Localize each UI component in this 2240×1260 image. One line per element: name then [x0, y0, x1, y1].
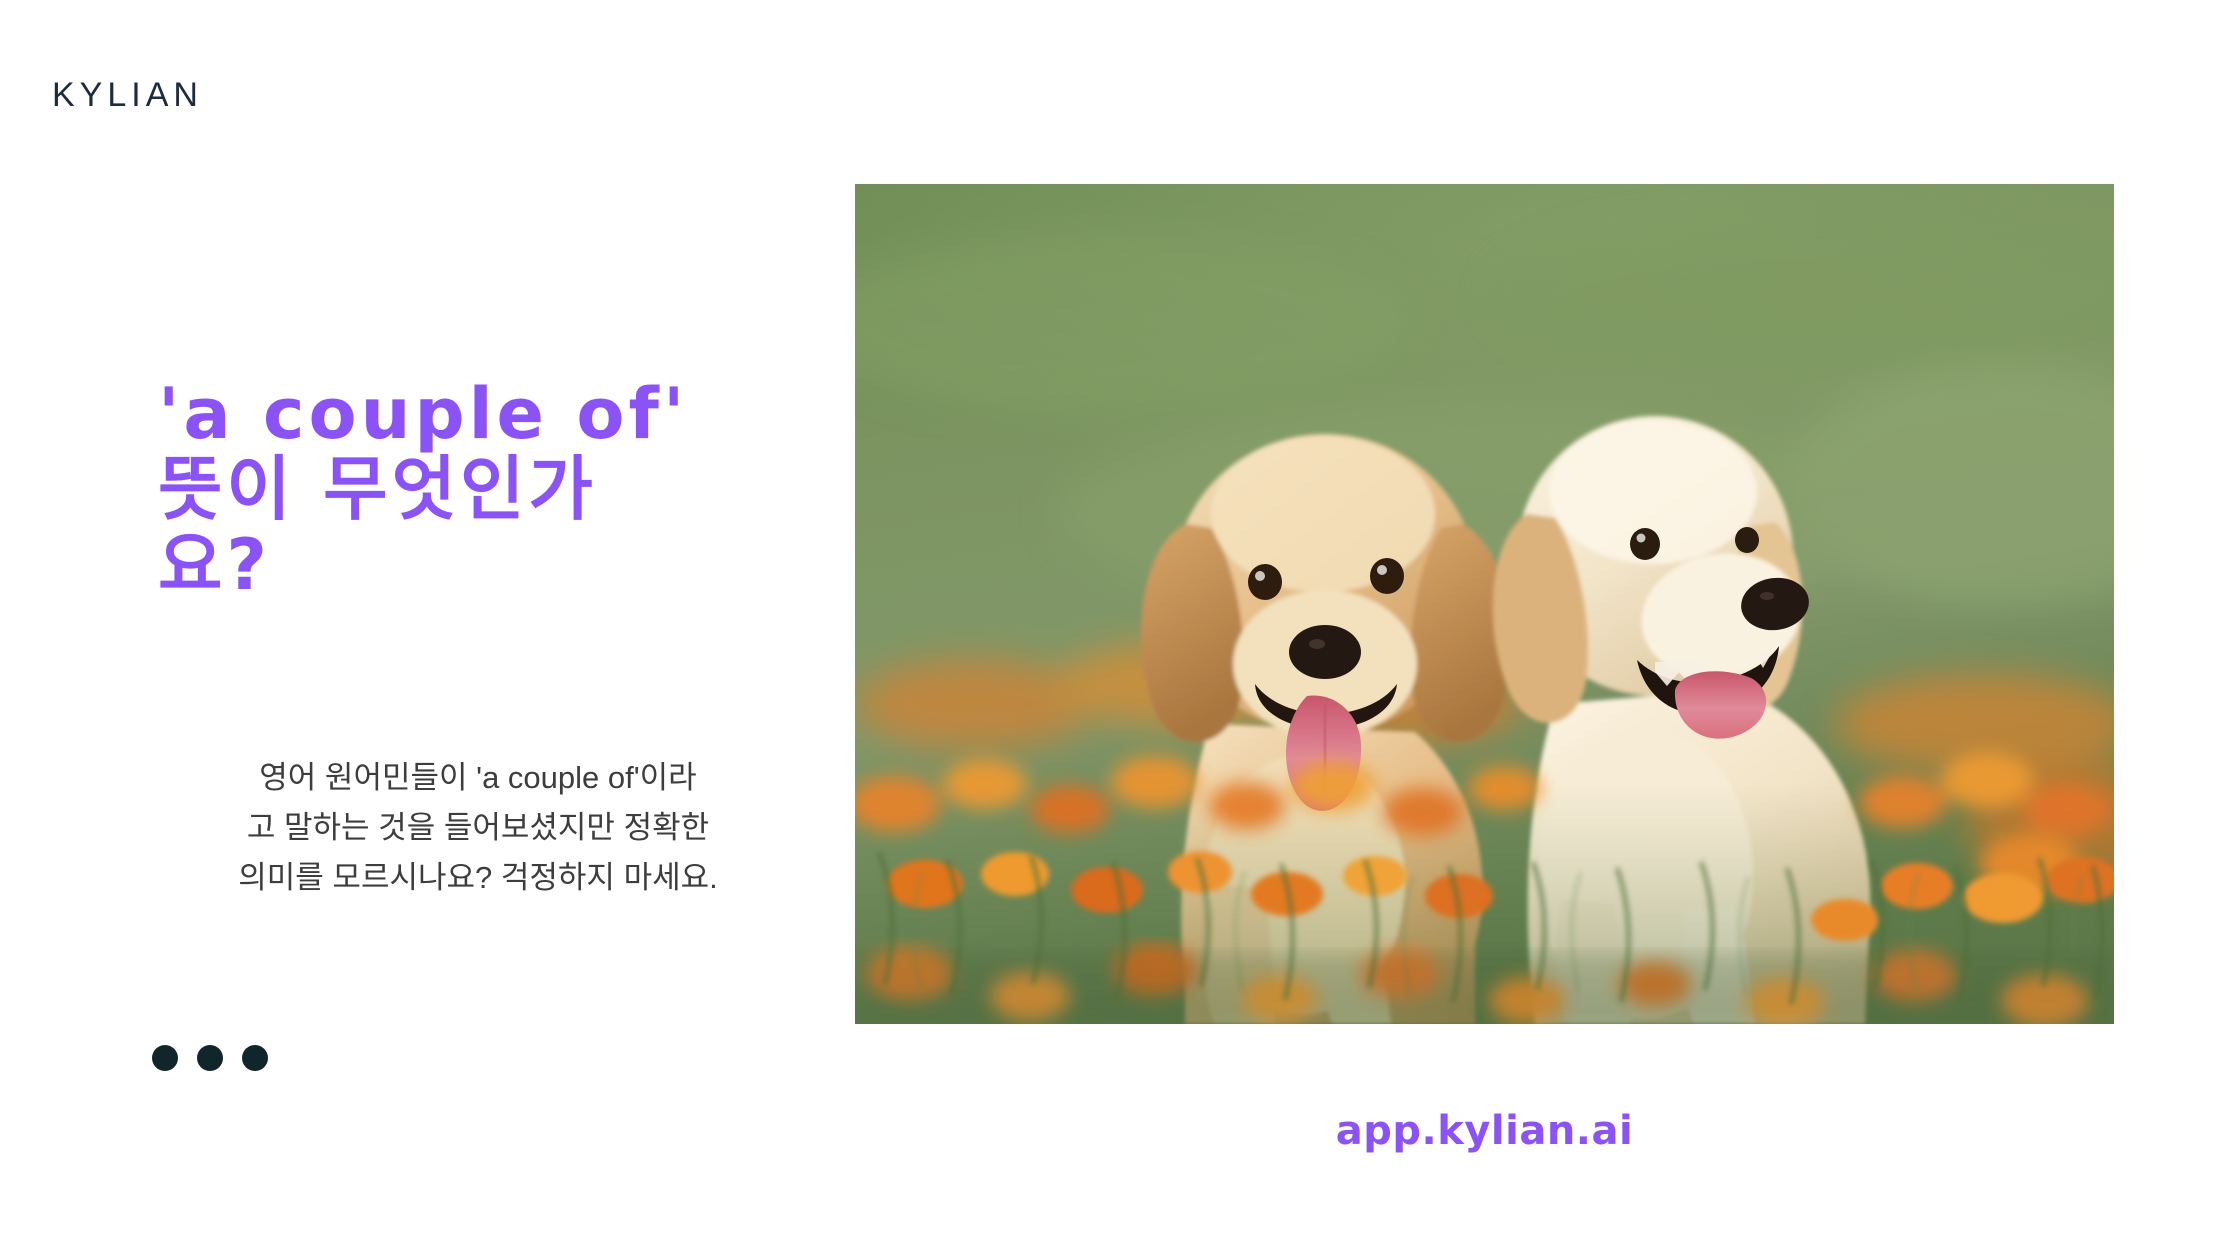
dot-icon	[197, 1045, 223, 1071]
page-title: 'a couple of' 뜻이 무엇인가 요?	[158, 377, 818, 604]
dot-icon	[242, 1045, 268, 1071]
dot-icon	[152, 1045, 178, 1071]
puppies-photo-illustration	[855, 184, 2114, 1024]
slide-canvas: KYLIAN 'a couple of' 뜻이 무엇인가 요? 영어 원어민들이…	[0, 0, 2240, 1260]
ellipsis-decoration	[152, 1045, 268, 1071]
headline-line-3: 요?	[158, 528, 818, 604]
headline-line-2: 뜻이 무엇인가	[158, 452, 818, 528]
subtitle-line-3: 의미를 모르시나요? 걱정하지 마세요.	[168, 853, 788, 903]
hero-photo	[855, 184, 2114, 1024]
subtitle-paragraph: 영어 원어민들이 'a couple of'이라 고 말하는 것을 들어보셨지만…	[168, 753, 788, 904]
subtitle-line-2: 고 말하는 것을 들어보셨지만 정확한	[168, 803, 788, 853]
left-text-column: 'a couple of' 뜻이 무엇인가 요? 영어 원어민들이 'a cou…	[0, 0, 855, 1260]
site-url-link[interactable]: app.kylian.ai	[855, 1108, 2114, 1154]
subtitle-line-1: 영어 원어민들이 'a couple of'이라	[168, 753, 788, 803]
headline-line-1: 'a couple of'	[158, 377, 818, 453]
